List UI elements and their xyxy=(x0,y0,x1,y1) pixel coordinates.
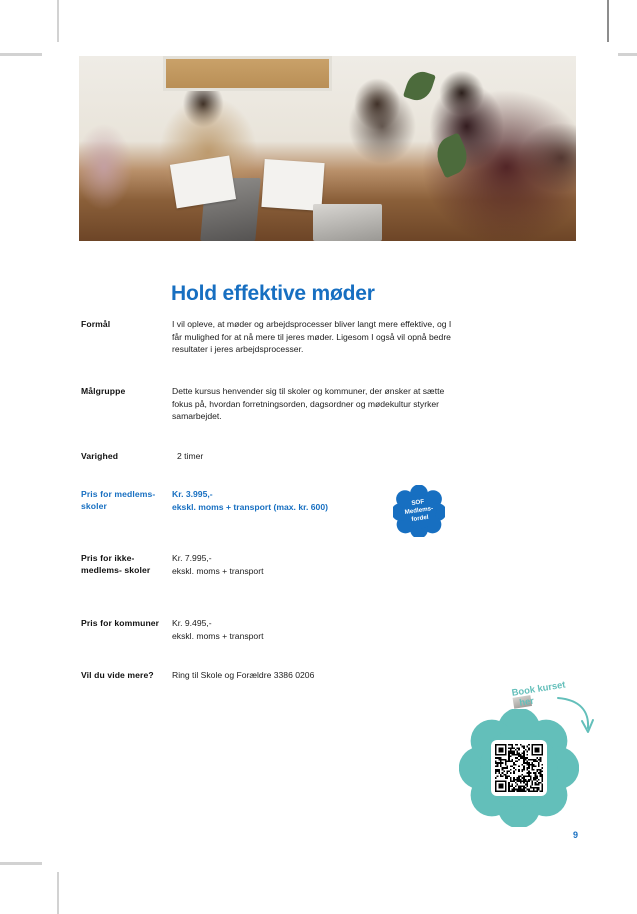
badge-text: SOF Medlems- fordel xyxy=(390,482,449,541)
row-label: Pris for medlems- skoler xyxy=(81,488,167,513)
crop-mark-top-right-vertical xyxy=(607,0,609,42)
row-label-line: Pris for xyxy=(81,489,112,499)
row-value-line: ekskl. moms + transport xyxy=(172,565,557,578)
row-label-line: kommuner xyxy=(114,618,159,628)
row-value-line: får mulighed for at nå mere til jeres mø… xyxy=(172,331,557,344)
row-label: Målgruppe xyxy=(81,385,167,397)
row-value-line: Dette kursus henvender sig til skoler og… xyxy=(172,385,557,398)
row-label: Varighed xyxy=(81,450,167,462)
qr-code-canvas[interactable] xyxy=(495,744,543,792)
row-value: Kr. 9.495,- ekskl. moms + transport xyxy=(172,617,557,642)
row-label-line: vide mere? xyxy=(107,670,153,680)
row-value-line: ekskl. moms + transport (max. kr. 600) xyxy=(172,501,557,514)
row-value-line: fokus på, hvordan forretningsorden, dags… xyxy=(172,398,557,411)
crop-mark-bottom-left-horizontal xyxy=(0,862,42,865)
booking-cta-block: Book kurset her xyxy=(455,678,595,828)
crop-mark-top-right-horizontal xyxy=(618,53,637,56)
badge-line-3: fordel xyxy=(411,514,429,524)
page-title: Hold effektive møder xyxy=(171,282,375,306)
row-label-line: skoler xyxy=(124,565,150,575)
row-value-line: Kr. 9.495,- xyxy=(172,617,557,630)
row-value-line: Kr. 3.995,- xyxy=(172,488,557,501)
hero-corkboard xyxy=(163,56,332,91)
row-label: Pris for ikke- medlems- skoler xyxy=(81,552,167,577)
crop-mark-top-left-horizontal xyxy=(0,53,42,56)
hero-paper-sheet xyxy=(170,155,236,208)
row-label-line: medlems- xyxy=(114,489,155,499)
row-value-line: Kr. 7.995,- xyxy=(172,552,557,565)
row-value: Kr. 3.995,- ekskl. moms + transport (max… xyxy=(172,488,557,513)
qr-code[interactable] xyxy=(491,740,547,796)
row-label: Formål xyxy=(81,318,167,330)
row-value-line: samarbejdet. xyxy=(172,410,557,423)
row-value-line: resultater i jeres arbejdsprocesser. xyxy=(172,343,557,356)
row-label: Pris for kommuner xyxy=(81,617,167,629)
row-value: Dette kursus henvender sig til skoler og… xyxy=(172,385,557,423)
row-label-line: Pris for ikke- xyxy=(81,553,134,563)
hero-laptop xyxy=(313,204,383,241)
row-value: 2 timer xyxy=(177,450,562,463)
crop-mark-bottom-left-vertical xyxy=(57,872,59,914)
hero-image xyxy=(79,56,576,241)
row-label: Vil du vide mere? xyxy=(81,669,167,681)
row-value-line: I vil opleve, at møder og arbejdsprocess… xyxy=(172,318,557,331)
crop-mark-top-left-vertical xyxy=(57,0,59,42)
row-label-line: medlems- xyxy=(81,565,122,575)
row-value: I vil opleve, at møder og arbejdsprocess… xyxy=(172,318,557,356)
sof-member-badge: SOF Medlems- fordel xyxy=(393,485,445,537)
row-value: Kr. 7.995,- ekskl. moms + transport xyxy=(172,552,557,577)
row-label-line: Vil du xyxy=(81,670,105,680)
row-label-line: Pris for xyxy=(81,618,112,628)
row-value-line: 2 timer xyxy=(177,450,562,463)
page-number: 9 xyxy=(573,830,578,840)
row-label-line: skoler xyxy=(81,501,107,511)
row-value-line: ekskl. moms + transport xyxy=(172,630,557,643)
